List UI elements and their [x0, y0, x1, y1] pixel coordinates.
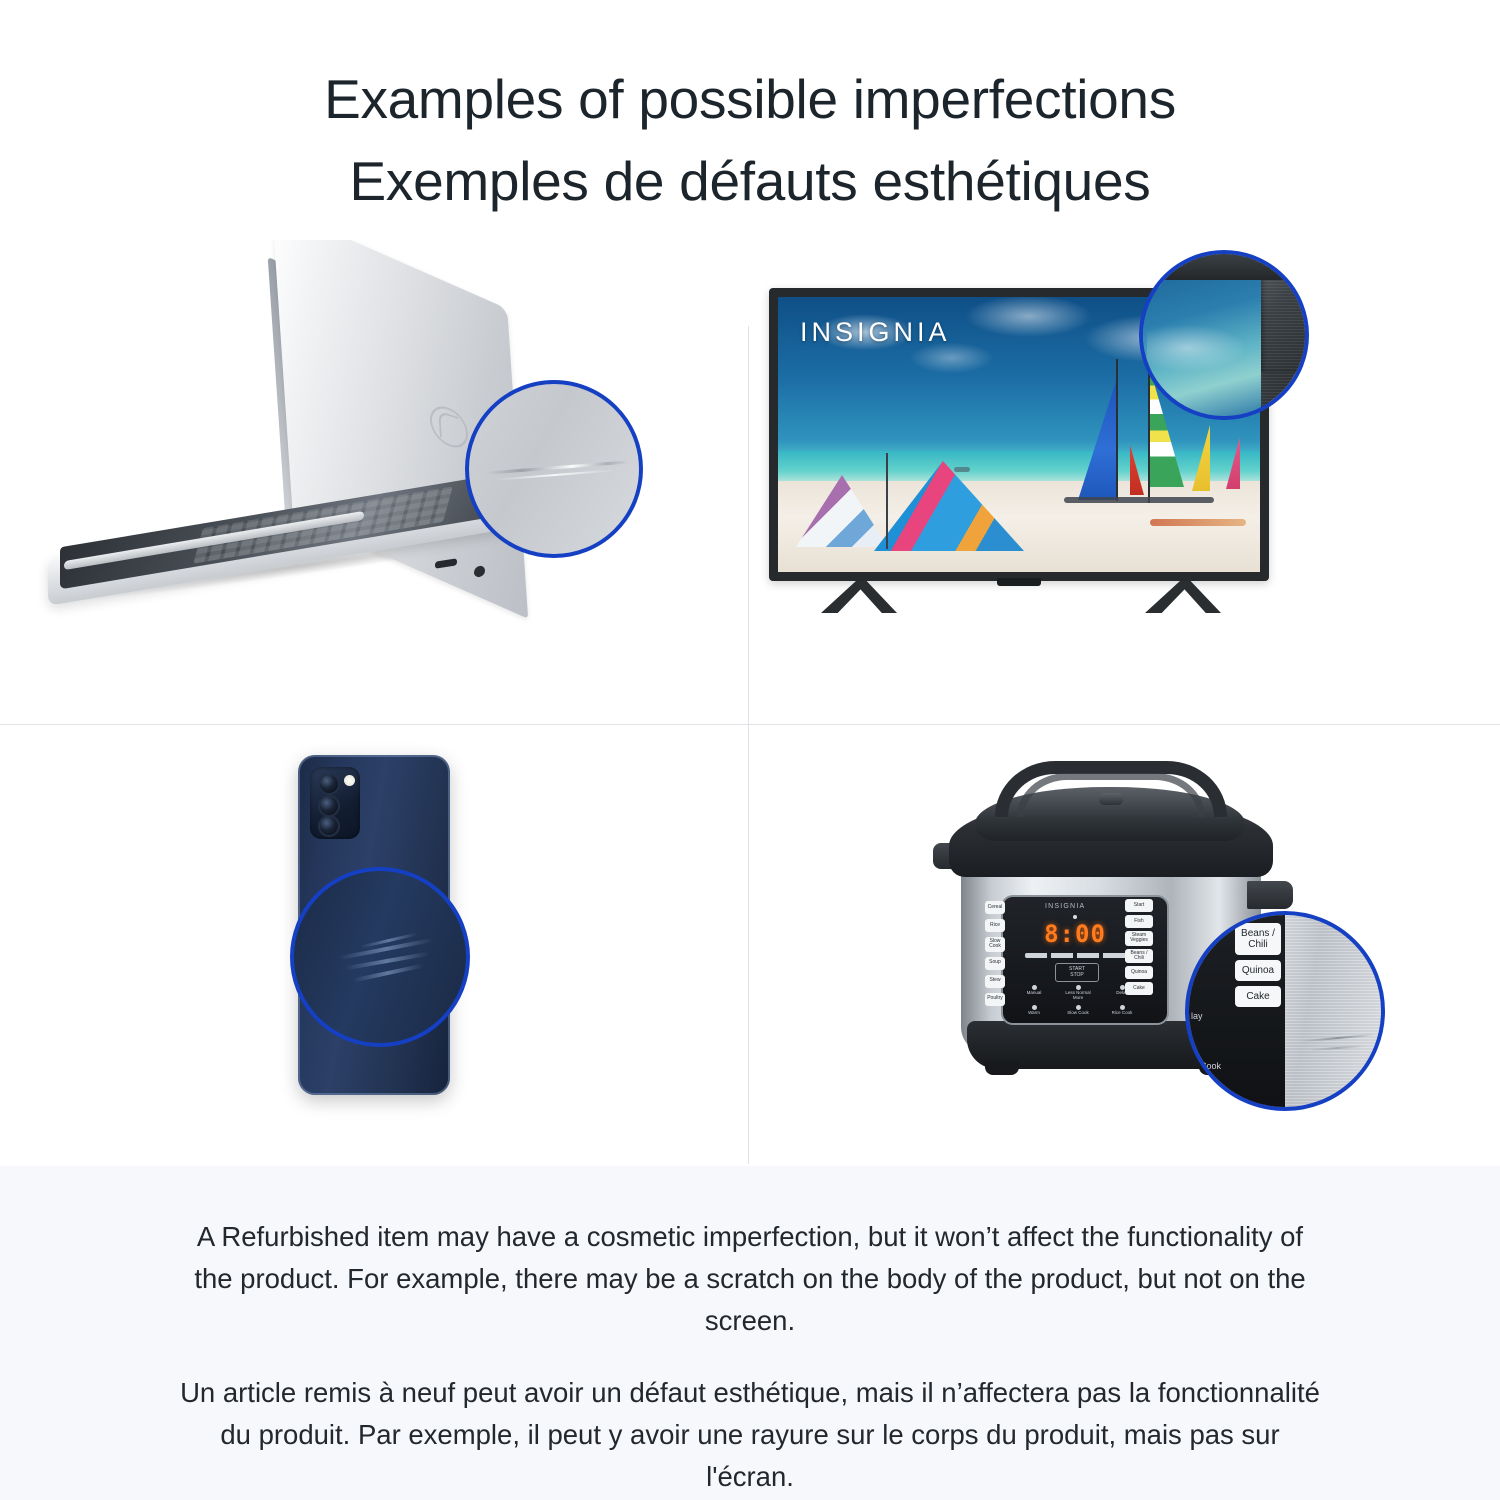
camera-lens-icon-1: [318, 773, 340, 795]
tv-magnified-bezel-top: [1143, 254, 1309, 280]
cooker-button-warm[interactable]: Warm: [1019, 1005, 1049, 1016]
television-illustration: INSIGNIA: [749, 240, 1500, 724]
cooker-indicator-dot: [1073, 915, 1077, 919]
cooker-side-handle-right: [1247, 881, 1293, 909]
example-cell-smartphone: [0, 725, 748, 1165]
refurbished-imperfections-infographic: Examples of possible imperfections Exemp…: [0, 0, 1500, 1500]
cooker-button-cake[interactable]: Cake: [1125, 982, 1153, 995]
cooker-inner-button-row-2: Warm Slow Cook Rice Cook: [1019, 1005, 1137, 1016]
cooker-led-display: 8:00: [1039, 921, 1111, 947]
cooker-magnified-button-cake[interactable]: Cake: [1235, 986, 1281, 1007]
page-title: Examples of possible imperfections Exemp…: [0, 58, 1500, 222]
cooker-magnified-button-quinoa[interactable]: Quinoa: [1235, 960, 1281, 981]
cooker-control-panel: INSIGNIA 8:00 STARTSTOP Manual Less Norm…: [1001, 895, 1169, 1025]
cooker-lid-handle-inner: [1017, 773, 1205, 817]
laptop-illustration: [0, 240, 748, 724]
cooker-left-button-column: Cereal Rice Slow Cook Soup Stew Poultry: [985, 901, 1005, 1006]
product-examples-grid: INSIGNIA: [0, 240, 1500, 1165]
cooker-button-quinoa[interactable]: Quinoa: [1125, 966, 1153, 979]
cooker-button-rice[interactable]: Rice: [985, 919, 1005, 932]
description-paragraph-french: Un article remis à neuf peut avoir un dé…: [180, 1372, 1320, 1498]
cooker-button-rice-cook[interactable]: Rice Cook: [1107, 1005, 1137, 1016]
tv-stand-right: [1145, 581, 1221, 613]
cooker-inner-button-row-1: Manual Less Normal More Delay: [1019, 985, 1137, 1001]
cooker-button-cereal[interactable]: Cereal: [985, 901, 1005, 914]
example-cell-pressure-cooker: INSIGNIA 8:00 STARTSTOP Manual Less Norm…: [749, 725, 1500, 1165]
example-cell-laptop: [0, 240, 748, 724]
cooker-button-stew[interactable]: Stew: [985, 975, 1005, 988]
cooker-button-fish[interactable]: Fish: [1125, 915, 1153, 928]
cooker-brand-label: INSIGNIA: [1045, 903, 1085, 910]
cooker-button-steam-veggies[interactable]: Steam Veggies: [1125, 931, 1153, 946]
camera-lens-icon-3: [318, 815, 340, 837]
cooker-magnified-button-beans-chili[interactable]: Beans / Chili: [1235, 923, 1281, 955]
cooker-magnified-label-delay: lay: [1191, 1011, 1203, 1021]
tv-magnified-cloud: [1147, 324, 1247, 372]
description-paragraph-english: A Refurbished item may have a cosmetic i…: [180, 1216, 1320, 1342]
cooker-magnified-brushed-steel: [1285, 915, 1385, 1111]
tv-stand-left: [821, 581, 897, 613]
cooker-right-button-column: Start Fish Steam Veggies Beans / Chili Q…: [1125, 899, 1153, 995]
cooker-button-manual[interactable]: Manual: [1019, 985, 1049, 1001]
tv-scene-hull-2: [1150, 519, 1246, 526]
cooker-button-slow-cook[interactable]: Slow Cook: [1063, 1005, 1093, 1016]
tv-scene-hull-1: [1064, 497, 1214, 503]
magnifier-circle-television: [1139, 250, 1309, 420]
tv-scene-distant-boat: [954, 467, 970, 472]
camera-lens-icon-2: [318, 795, 340, 817]
tv-chin-badge: [997, 578, 1041, 586]
cooker-magnified-button-column: Beans / Chili Quinoa Cake: [1235, 923, 1281, 1007]
page-title-english: Examples of possible imperfections: [0, 58, 1500, 140]
cooker-button-beans-chili[interactable]: Beans / Chili: [1125, 949, 1153, 964]
cooker-magnified-label-slow-cook: w Cook: [1191, 1061, 1221, 1071]
magnifier-circle-smartphone: [290, 867, 470, 1047]
tv-scene-mast-1: [1116, 359, 1118, 501]
cooker-start-stop-button[interactable]: STARTSTOP: [1055, 963, 1099, 982]
cooker-button-slow-cook-left[interactable]: Slow Cook: [985, 937, 1005, 952]
phone-camera-module: [310, 767, 360, 839]
example-cell-television: INSIGNIA: [749, 240, 1500, 724]
tv-screen-brand-logo: INSIGNIA: [800, 317, 951, 348]
cooker-button-start[interactable]: Start: [1125, 899, 1153, 912]
cooker-foot-left: [985, 1061, 1019, 1075]
magnifier-circle-pressure-cooker: Veggies lay w Cook Beans / Chili Quinoa …: [1185, 911, 1385, 1111]
laptop-scratch-mark: [487, 460, 629, 474]
cooker-button-poultry[interactable]: Poultry: [985, 993, 1005, 1006]
description-inner: A Refurbished item may have a cosmetic i…: [180, 1166, 1320, 1498]
tv-scene-tent-pole: [886, 453, 888, 549]
cooker-magnified-label-veggies: Veggies: [1191, 929, 1223, 939]
tv-scene-sea: [778, 451, 1260, 484]
description-section: A Refurbished item may have a cosmetic i…: [0, 1166, 1500, 1500]
cooker-progress-bar: [1025, 953, 1129, 958]
cooker-button-less-normal-more[interactable]: Less Normal More: [1063, 985, 1093, 1001]
camera-flash-icon: [344, 775, 355, 786]
smartphone-illustration: [0, 725, 748, 1165]
pressure-cooker-illustration: INSIGNIA 8:00 STARTSTOP Manual Less Norm…: [749, 725, 1500, 1165]
page-title-french: Exemples de défauts esthétiques: [0, 140, 1500, 222]
magnifier-circle-laptop: [465, 380, 643, 558]
cooker-button-soup[interactable]: Soup: [985, 957, 1005, 970]
